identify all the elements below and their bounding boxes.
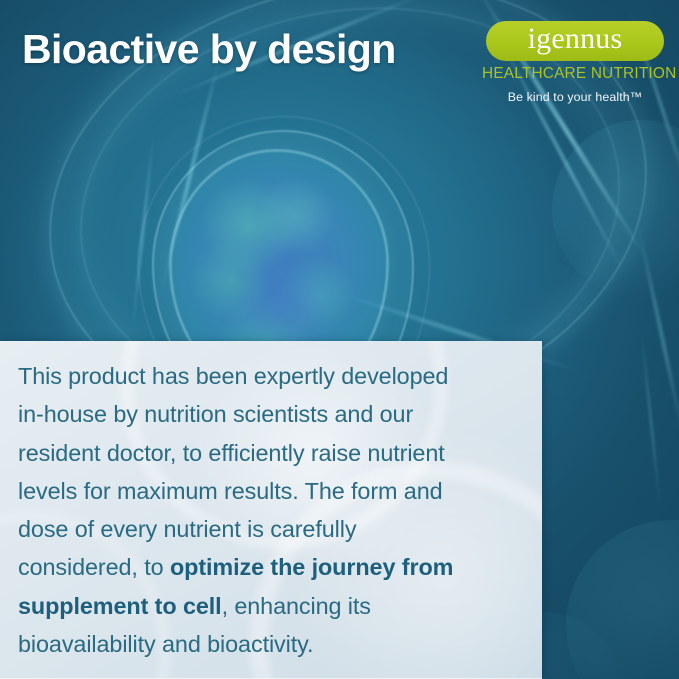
description-text-lead: This product has been expertly developed… xyxy=(18,363,448,580)
logo-wordmark: igennus xyxy=(510,24,640,55)
description-panel: This product has been expertly developed… xyxy=(0,341,542,679)
page-title: Bioactive by design xyxy=(22,28,492,71)
brand-tagline: Be kind to your health™ xyxy=(482,90,668,104)
brand-logo: igennus HEALTHCARE NUTRITION Be kind to … xyxy=(482,21,668,104)
marketing-graphic: Bioactive by design igennus HEALTHCARE N… xyxy=(0,0,679,679)
description-text: This product has been expertly developed… xyxy=(18,357,470,663)
logo-pill: igennus xyxy=(486,21,664,61)
logo-subtitle: HEALTHCARE NUTRITION xyxy=(482,65,668,83)
